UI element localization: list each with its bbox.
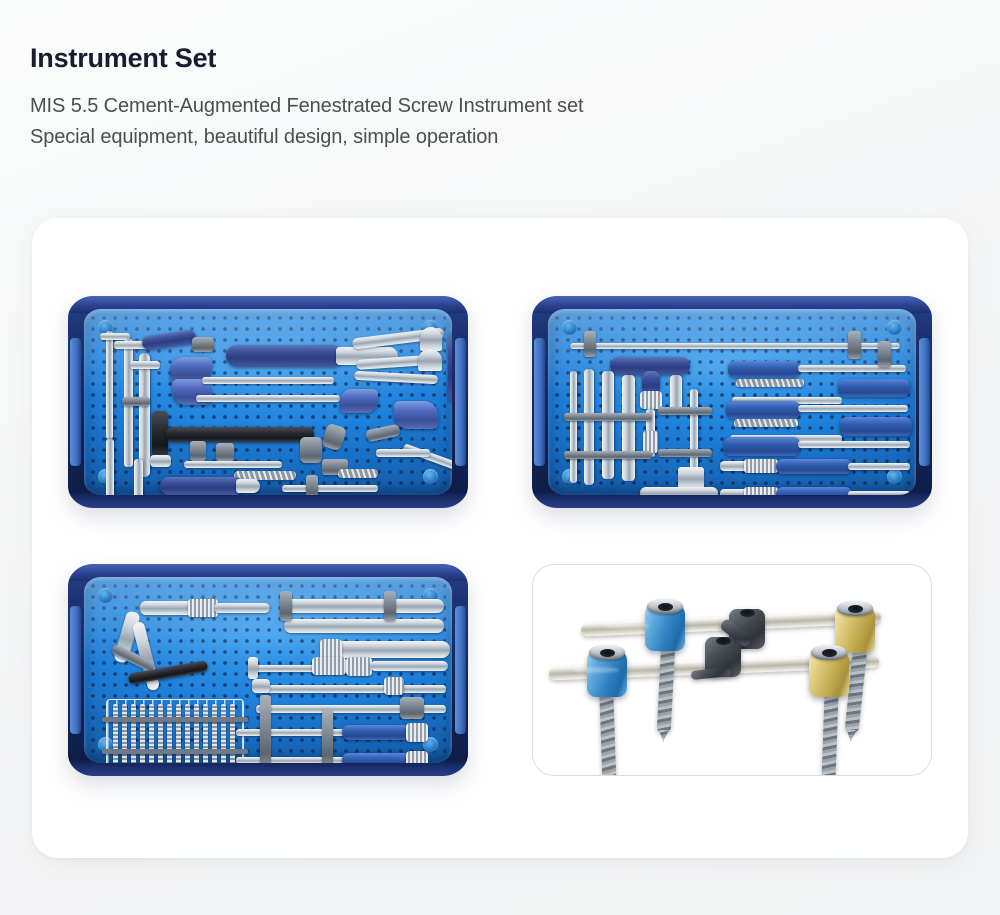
construct-panel [532,564,932,776]
instrument-rod [106,331,113,439]
tray-corner-post [423,469,438,484]
tray-handle-right [455,606,466,733]
tap-shaft [570,371,577,483]
tap-shaft [602,371,614,479]
tray-bracket [658,407,712,415]
driver-handle [840,417,912,436]
tulip-bore [600,649,615,657]
tray-image-3 [68,564,468,776]
instrument-shaft [196,395,340,402]
rod-pusher-tip [252,679,270,693]
butterfly-handle [340,389,378,413]
driver-handle [160,477,244,495]
tray-base [84,309,452,495]
tulip-bore [848,605,863,613]
probe-shaft [690,389,698,471]
inserter-handle [226,345,344,367]
tray-divider [260,695,271,763]
tray-handle-left [70,338,81,465]
mallet-cap [150,455,171,467]
butterfly-handle [394,401,438,429]
tap-thread [736,379,804,387]
dilator-tube [324,641,450,658]
driver-knob [744,487,778,495]
instrument-shaft [134,459,143,495]
instrument-shaft [184,461,282,468]
tray-image-1 [68,296,468,508]
dilator-tube [284,619,444,633]
gallery-item-tray-1[interactable] [68,296,468,508]
tulip-head-blue[interactable] [587,651,627,697]
clamp-block [190,441,206,461]
inserter-shaft [370,661,448,671]
driver-knob [406,751,428,763]
driver-knob [744,459,778,473]
tray-corner-post [98,588,113,603]
tulip-head-gold[interactable] [809,651,849,697]
tulip-bore [822,649,837,657]
page-subtitle: MIS 5.5 Cement-Augmented Fenestrated Scr… [30,91,930,153]
cross-connector-bore [716,637,731,645]
instrument-shaft [202,377,334,384]
rod-clip [584,331,596,357]
driver-handle [342,753,410,763]
tap-thread [734,419,798,427]
gallery-grid [68,296,932,776]
t-handle-chuck [192,337,214,352]
instrument-tip [130,361,160,369]
tray-bracket [564,451,652,459]
pedicle-screw-shank [821,689,838,776]
probe-handle [448,331,452,403]
driver-chuck [236,479,260,493]
driver-knob [406,723,428,742]
subtitle-line-1: MIS 5.5 Cement-Augmented Fenestrated Scr… [30,91,930,122]
gallery-item-tray-2[interactable] [532,296,932,508]
tray-divider [322,709,333,763]
instrument-shaft [376,449,430,457]
inserter-flange [248,657,258,679]
tamp-head [678,467,704,489]
gallery-item-tray-3[interactable] [68,564,468,776]
coupler [643,431,658,453]
tulip-bore [658,603,673,611]
tray-bracket [658,449,712,457]
tray-clip [384,591,396,621]
driver-shaft [798,441,910,448]
tap-shaft [584,369,594,485]
tray-handle-right [919,338,930,465]
rod-clip [878,341,891,367]
subtitle-line-2: Special equipment, beautiful design, sim… [30,122,930,153]
pedicle-screw-construct [533,565,931,775]
gallery-card [32,218,968,858]
tulip-head-blue[interactable] [645,605,685,651]
tamp-shaft [640,487,718,495]
pedicle-screw-shank [657,643,676,734]
mallet-handle [166,427,314,442]
page-header: Instrument Set MIS 5.5 Cement-Augmented … [30,42,930,153]
page-title: Instrument Set [30,42,930,74]
knurled-knob [384,677,404,695]
driver-shaft [236,757,356,763]
instrument-collar [122,397,150,406]
threaded-shaft [338,469,378,478]
tray-clip [280,591,292,621]
driver-shaft [798,405,908,412]
tray-corner-post [562,320,577,335]
t-handle-chuck [640,391,662,409]
dilator-tube [284,599,444,613]
cross-connector-bore [740,609,755,617]
tray-corner-post [887,469,902,484]
cement-gun-nozzle [214,603,270,613]
tray-bracket [564,413,652,421]
driver-shaft [236,729,356,736]
driver-handle [776,459,852,474]
tray-handle-right [455,338,466,465]
tray-corner-post [887,320,902,335]
tray-handle-left [534,338,545,465]
inserter-shaft [252,665,318,672]
tap-shaft [622,375,635,481]
persuader-head [400,697,424,719]
instrument-shaft [282,485,378,492]
fork-tip [420,327,442,351]
fork-tip [418,349,442,371]
product-page: Instrument Set MIS 5.5 Cement-Augmented … [0,0,1000,915]
inserter-knob [346,657,372,676]
driver-handle [726,401,800,419]
rod-pusher [260,685,446,693]
tray-base [84,577,452,763]
gallery-item-construct-photo[interactable] [532,564,932,776]
instrument-shaft [106,439,114,495]
rod-clip [848,331,861,359]
driver-shaft [848,491,910,495]
tray-handle-left [70,606,81,733]
joint-block [300,437,322,463]
tray-image-2 [532,296,932,508]
tap-tip [670,375,682,411]
instrument-stop [306,475,318,495]
driver-handle [776,487,852,495]
driver-handle [728,361,800,378]
pedicle-screw-shank [599,691,616,776]
driver-handle [838,379,910,397]
driver-shaft [848,463,910,470]
driver-handle [724,437,800,456]
inserter-knob [312,657,346,675]
driver-handle [342,725,410,740]
clamp-block [216,443,234,461]
tray-base [548,309,916,495]
